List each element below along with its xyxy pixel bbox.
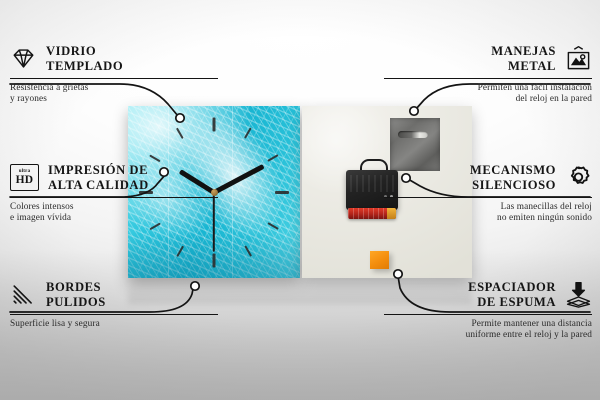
feature-title: VIDRIO TEMPLADO (46, 44, 123, 73)
feature-divider (384, 78, 592, 79)
clock-tick (213, 117, 216, 131)
feature-subtitle: Permite mantener una distancia uniforme … (384, 319, 592, 342)
feature-divider (10, 197, 218, 198)
feature-manejas-metal: MANEJAS METAL Permiten una fácil instala… (384, 44, 592, 106)
clock-tick (213, 253, 216, 267)
feature-header: MECANISMO SILENCIOSO (384, 163, 592, 192)
feature-title: MANEJAS METAL (491, 44, 556, 73)
feature-divider (10, 314, 218, 315)
feature-header: VIDRIO TEMPLADO (10, 44, 218, 73)
feature-espaciador-espuma: ESPACIADOR DE ESPUMA Permite mantener un… (384, 280, 592, 342)
ultra-hd-icon: ultra HD (10, 164, 39, 191)
feature-header: ESPACIADOR DE ESPUMA (384, 280, 592, 309)
feature-header: ultra HD IMPRESIÓN DE ALTA CALIDAD (10, 163, 218, 192)
feature-mecanismo-silencioso: MECANISMO SILENCIOSO Las manecillas del … (384, 163, 592, 225)
feature-divider (10, 78, 218, 79)
feature-header: MANEJAS METAL (384, 44, 592, 73)
feature-subtitle: Resistencia a grietas y rayones (10, 83, 218, 106)
foam-spacer-icon (565, 281, 592, 308)
infographic-canvas: VIDRIO TEMPLADO Resistencia a grietas y … (0, 0, 600, 400)
gear-icon (565, 164, 592, 191)
feature-divider (384, 197, 592, 198)
hanger-slot (398, 131, 428, 138)
picture-hanger-icon (565, 45, 592, 72)
feature-impresion-alta-calidad: ultra HD IMPRESIÓN DE ALTA CALIDAD Color… (10, 163, 218, 225)
feature-subtitle: Permiten una fácil instalación del reloj… (384, 83, 592, 106)
feature-header: BORDES PULIDOS (10, 280, 218, 309)
feature-subtitle: Las manecillas del reloj no emiten ningú… (384, 202, 592, 225)
feature-subtitle: Colores intensos e imagen vívida (10, 202, 218, 225)
clock-tick (275, 191, 289, 194)
polished-edges-icon (10, 281, 37, 308)
feature-bordes-pulidos: BORDES PULIDOS Superficie lisa y segura (10, 280, 218, 330)
diamond-icon (10, 45, 37, 72)
feature-title: IMPRESIÓN DE ALTA CALIDAD (48, 163, 149, 192)
feature-title: MECANISMO SILENCIOSO (470, 163, 556, 192)
feature-divider (384, 314, 592, 315)
feature-title: BORDES PULIDOS (46, 280, 106, 309)
feature-subtitle: Superficie lisa y segura (10, 319, 218, 330)
feature-title: ESPACIADOR DE ESPUMA (468, 280, 556, 309)
hd-main-label: HD (16, 175, 34, 187)
foam-spacer (370, 251, 389, 269)
feature-vidrio-templado: VIDRIO TEMPLADO Resistencia a grietas y … (10, 44, 218, 106)
